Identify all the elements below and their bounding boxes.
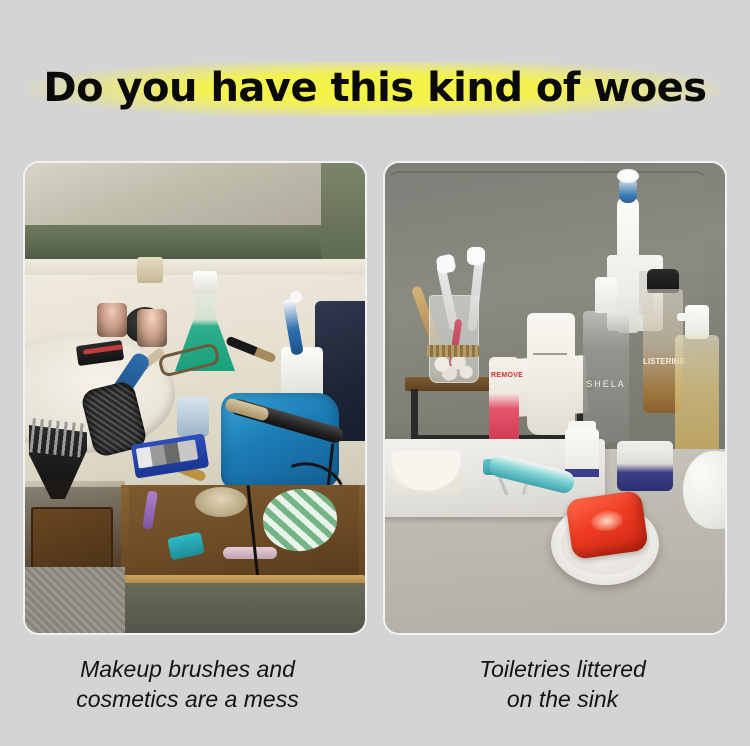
powder-compact-b <box>137 309 167 347</box>
caption-row: Makeup brushes and cosmetics are a mess … <box>0 648 750 746</box>
caption-makeup-vanity: Makeup brushes and cosmetics are a mess <box>0 648 375 746</box>
white-pebbles <box>431 353 475 381</box>
amber-bottle-pump <box>685 305 709 339</box>
amber-bottle-nozzle <box>677 313 695 321</box>
caption-bathroom-sink: Toiletries littered on the sink <box>375 648 750 746</box>
stone-floor-tile <box>25 567 125 633</box>
toothbrush-head-b <box>467 247 485 265</box>
jar-twine-wrap <box>427 345 479 357</box>
cosmetic-jar <box>137 257 163 283</box>
caption-line-2: cosmetics are a mess <box>0 684 375 714</box>
blue-white-cream-jar <box>617 447 673 491</box>
caption-line-2: on the sink <box>375 684 750 714</box>
remove-label: REMOVE <box>491 371 517 380</box>
plastic-cup <box>177 397 209 437</box>
shela-label: SHELA <box>583 379 629 389</box>
cream-tube-label-line <box>533 353 567 355</box>
makeup-vanity-photo <box>25 163 365 633</box>
cotton-pads <box>389 451 463 493</box>
powder-compact-a <box>97 303 127 337</box>
caption-line-1: Toiletries littered <box>375 654 750 684</box>
bathroom-sink-photo: LISTERINE REMOVE SHELA <box>385 163 725 633</box>
remove-cleanser-tube <box>489 357 519 443</box>
drawer-cosmetic-tube <box>223 547 277 559</box>
green-wall <box>25 225 365 259</box>
page-title: Do you have this kind of woes <box>0 58 750 120</box>
drawer-hairpiece <box>195 487 247 517</box>
photo-panel-row: LISTERINE REMOVE SHELA <box>0 163 750 633</box>
page-title-text: Do you have this kind of woes <box>29 62 720 116</box>
panel-bathroom-sink[interactable]: LISTERINE REMOVE SHELA <box>385 163 725 633</box>
amber-spray-bottle <box>675 335 719 467</box>
electric-toothbrush-bristles <box>617 169 639 183</box>
flask-cap <box>193 271 217 293</box>
caption-line-1: Makeup brushes and <box>0 654 375 684</box>
mirror-glass <box>25 163 325 228</box>
electric-toothbrush-head <box>290 291 302 303</box>
panel-makeup-vanity[interactable] <box>25 163 365 633</box>
afro-pick-teeth <box>29 418 86 457</box>
green-wall-right <box>321 163 365 263</box>
shela-pump-head <box>595 277 617 313</box>
white-cream-tube <box>527 313 575 435</box>
cabinet-door-panel <box>31 507 113 571</box>
